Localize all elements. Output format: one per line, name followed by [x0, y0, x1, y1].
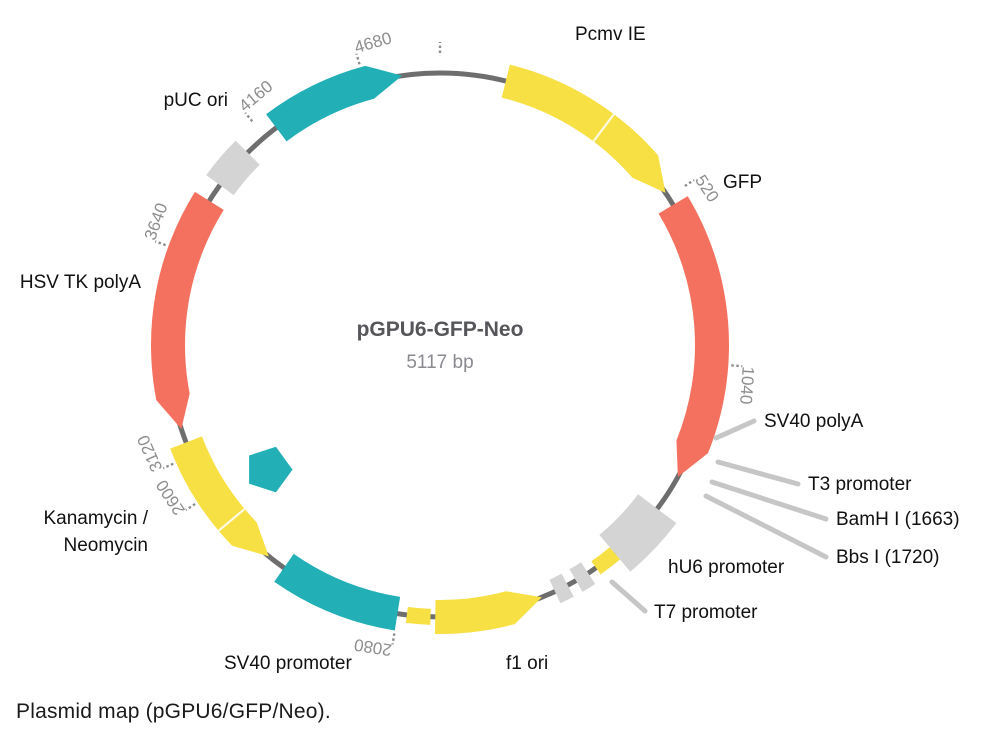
feature-label-hsv-tk-polya: HSV TK polyA — [20, 272, 141, 293]
plasmid-map-figure: 5201040208026003120364041604680 Pcmv IEG… — [0, 0, 982, 744]
plasmid-feature-puc-ori — [266, 66, 402, 142]
plasmid-feature-bamh-i-1663 — [570, 562, 596, 592]
feature-label-t7-promoter: T7 promoter — [654, 602, 758, 623]
leader-line-t3-promoter — [718, 462, 798, 484]
tick-label-3120: 3120 — [134, 432, 167, 474]
leader-line-bbs-i-1720 — [706, 496, 826, 557]
feature-label-bamh-i-1663: BamH I (1663) — [836, 509, 960, 530]
feature-label-puc-ori: pUC ori — [164, 90, 228, 111]
plasmid-feature-f1-ori — [274, 554, 400, 631]
feature-label-gfp: GFP — [723, 172, 762, 193]
tick-label-3640: 3640 — [141, 201, 172, 243]
plasmid-length: 5117 bp — [406, 352, 473, 373]
feature-label-hu6-promoter: hU6 promoter — [668, 557, 785, 578]
plasmid-center-label: pGPU6-GFP-Neo 5117 bp — [357, 318, 524, 373]
figure-caption: Plasmid map (pGPU6/GFP/Neo). — [16, 700, 331, 724]
plasmid-feature-pcmv-ie — [502, 65, 666, 193]
plasmid-feature-bbs-i-1720 — [549, 574, 573, 604]
leader-line-sv40-polya — [716, 421, 754, 438]
tick-label-520: 520 — [691, 172, 722, 206]
feature-label-kanamycin-neomycin: Neomycin — [64, 535, 148, 556]
tick-label-1040: 1040 — [736, 366, 758, 405]
plasmid-feature-unlabeled — [249, 447, 292, 493]
tick-label-4160: 4160 — [235, 77, 276, 116]
plasmid-feature-hu6-promoter — [435, 591, 542, 634]
tick-label-2600: 2600 — [152, 476, 189, 518]
plasmid-feature-t7-promoter — [406, 607, 431, 625]
feature-label-bbs-i-1720: Bbs I (1720) — [836, 547, 940, 568]
plasmid-features — [151, 65, 729, 634]
feature-label-sv40-polya: SV40 polyA — [764, 411, 864, 432]
feature-label-sv40-promoter: SV40 promoter — [224, 653, 352, 674]
feature-label-pcmv-ie: Pcmv IE — [575, 24, 646, 45]
feature-label-kanamycin-neomycin: Kanamycin / — [43, 508, 148, 529]
feature-label-t3-promoter: T3 promoter — [808, 474, 912, 495]
page-title: pGPU6-GFP-Neo — [357, 318, 524, 341]
leader-line-t7-promoter — [612, 582, 645, 611]
tick-label-4680: 4680 — [352, 28, 394, 57]
tick-label-2080: 2080 — [353, 635, 393, 660]
plasmid-map-svg: 5201040208026003120364041604680 Pcmv IEG… — [0, 0, 982, 690]
feature-label-f1-ori: f1 ori — [506, 653, 548, 674]
plasmid-ticks: 5201040208026003120364041604680 — [134, 28, 758, 659]
